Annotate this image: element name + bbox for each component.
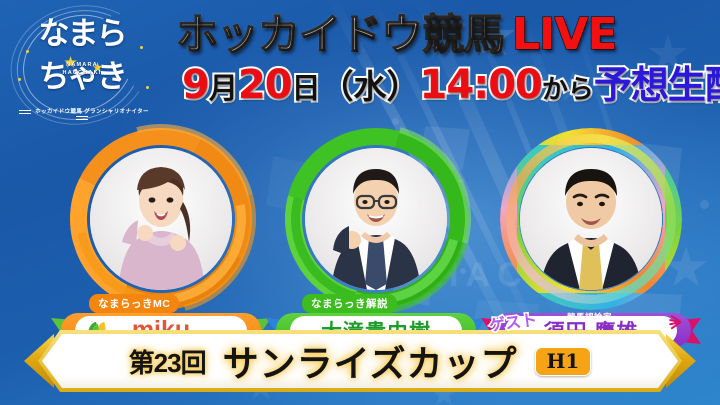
program-logo: なまら ちゃき NAMARA HACCHAKI ホッカイドウ競馬 グランシャリオ…	[8, 6, 156, 124]
presenter-figure	[520, 148, 662, 290]
presenter-card-guest: 競馬評論家 須田 鷹雄 ゲスト	[487, 128, 695, 343]
date-month-kanji: 月	[209, 71, 238, 105]
presenter-photo	[90, 148, 232, 290]
logo-rule-left	[19, 110, 31, 114]
presenter-role-badge: なまらっき解説	[302, 294, 397, 313]
race-banner: 第23回 サンライズカップ H1	[24, 330, 696, 392]
presenter-figure	[90, 148, 232, 290]
date-day-kanji: 日	[292, 71, 321, 105]
date-particle: から	[542, 75, 594, 105]
date-month-number: 9	[182, 62, 209, 108]
race-edition-number: 第23回	[129, 343, 206, 380]
logo-romaji-line-1: NAMARA	[8, 62, 156, 70]
presenter-photo	[520, 148, 662, 290]
logo-wordmark: なまら ちゃき	[8, 20, 156, 91]
presenter-subrole: 競馬評論家	[567, 311, 612, 323]
logo-tagline: ホッカイドウ競馬 グランシャリオナイター	[35, 109, 149, 115]
headline: ホッカイドウ競馬LIVE	[176, 9, 712, 61]
logo-tagline-row: ホッカイドウ競馬 グランシャリオナイター	[8, 107, 156, 121]
sparkle-icon	[669, 313, 691, 331]
logo-romaji-line-2: HACCHAKI	[8, 70, 156, 78]
presenter-figure	[305, 148, 447, 290]
headline-title: ホッカイドウ競馬	[176, 10, 504, 59]
logo-romaji: NAMARA HACCHAKI	[8, 62, 156, 78]
presenter-card-mc: miku なまらっきMC	[57, 128, 265, 343]
broadcast-time: 14:00	[420, 62, 542, 108]
presenter-role-badge: なまらっきMC	[89, 294, 179, 313]
banner-inner: 第23回 サンライズカップ H1	[42, 334, 678, 388]
background-dot	[700, 200, 709, 209]
presenter-photo	[305, 148, 447, 290]
date-weekday: （水）	[321, 67, 420, 106]
logo-rule-right	[76, 116, 88, 120]
stream-label: 予想生配信	[594, 63, 720, 107]
background-dot	[392, 118, 399, 125]
date-day-number: 20	[238, 62, 292, 108]
race-title: サンライズカップ	[223, 335, 518, 387]
presenter-card-analyst: 大滝貴由樹 なまらっき解説	[272, 128, 480, 343]
race-grade-badge: H1	[535, 347, 592, 376]
logo-line-1: なまら	[8, 20, 156, 49]
broadcast-graphic: N HAC なまら ちゃき NAMARA HACCHAKI ホッカイドウ競馬 グ…	[0, 0, 720, 405]
broadcast-datetime: 9月20日（水）14:00から予想生配信	[182, 62, 714, 108]
headline-live-badge: LIVE	[512, 9, 617, 60]
